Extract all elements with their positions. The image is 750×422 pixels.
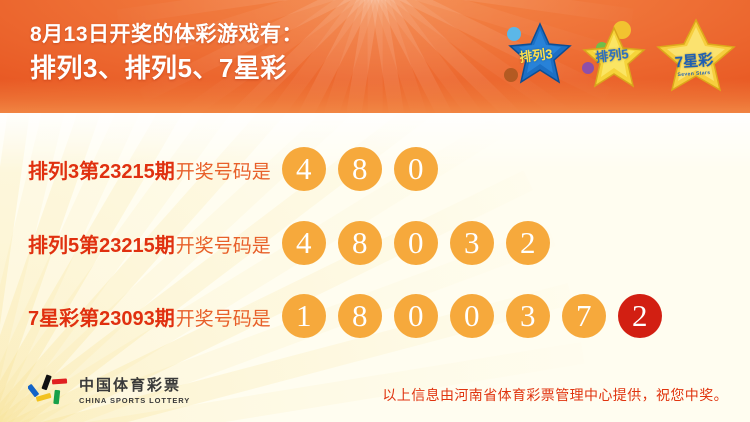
winning-number-value: 3 bbox=[520, 300, 536, 331]
winning-number-value: 0 bbox=[408, 227, 424, 258]
china-sports-lottery-logo-icon bbox=[28, 374, 70, 408]
winning-number-ball: 0 bbox=[394, 294, 438, 338]
brand-name-en: CHINA SPORTS LOTTERY bbox=[79, 396, 190, 405]
winning-number-ball: 4 bbox=[282, 147, 326, 191]
header-line-1: 8月13日开奖的体彩游戏有： bbox=[30, 22, 303, 48]
result-issue-label: 排列5第23215期 bbox=[28, 229, 175, 258]
winning-number-value: 2 bbox=[632, 300, 648, 331]
header-title-block: 8月13日开奖的体彩游戏有： 排列3、排列5、7星彩 bbox=[30, 22, 303, 86]
result-tail-label: 开奖号码是 bbox=[176, 157, 271, 184]
result-row: 排列5第23215期开奖号码是48032 bbox=[28, 219, 562, 267]
brand-text-block: 中国体育彩票 CHINA SPORTS LOTTERY bbox=[79, 377, 190, 404]
result-row-label: 排列3第23215期开奖号码是 bbox=[28, 155, 271, 184]
game-logo-pailie3[interactable]: 排列3 bbox=[500, 18, 572, 92]
winning-number-value: 4 bbox=[296, 227, 312, 258]
winning-number-ball: 8 bbox=[338, 221, 382, 265]
result-tail-label: 开奖号码是 bbox=[176, 231, 271, 258]
banner-body: 排列3第23215期开奖号码是480排列5第23215期开奖号码是480327星… bbox=[0, 113, 750, 422]
winning-number-ball: 8 bbox=[338, 294, 382, 338]
header-line-2: 排列3、排列5、7星彩 bbox=[30, 52, 303, 86]
winning-number-value: 8 bbox=[352, 227, 368, 258]
winning-number-ball: 0 bbox=[394, 221, 438, 265]
winning-number-ball: 0 bbox=[394, 147, 438, 191]
game-logo-group: 排列3 排列5 7星彩 Seven Stars bbox=[500, 18, 736, 92]
winning-number-value: 2 bbox=[520, 227, 536, 258]
result-row: 7星彩第23093期开奖号码是1800372 bbox=[28, 292, 674, 340]
banner-footer: 中国体育彩票 CHINA SPORTS LOTTERY 以上信息由河南省体育彩票… bbox=[0, 360, 750, 422]
winning-number-group: 48032 bbox=[282, 221, 562, 265]
result-row: 排列3第23215期开奖号码是480 bbox=[28, 145, 450, 193]
banner-header: 8月13日开奖的体彩游戏有： 排列3、排列5、7星彩 排列3 bbox=[0, 0, 750, 113]
winning-number-value: 7 bbox=[576, 300, 592, 331]
result-row-label: 排列5第23215期开奖号码是 bbox=[28, 229, 271, 258]
winning-number-value: 0 bbox=[408, 153, 424, 184]
winning-number-ball: 2 bbox=[506, 221, 550, 265]
winning-number-value: 0 bbox=[464, 300, 480, 331]
winning-number-ball: 4 bbox=[282, 221, 326, 265]
winning-number-value: 8 bbox=[352, 153, 368, 184]
result-tail-label: 开奖号码是 bbox=[176, 304, 271, 331]
game-logo-pailie5[interactable]: 排列5 bbox=[576, 18, 648, 92]
winning-number-ball: 7 bbox=[562, 294, 606, 338]
winning-number-ball: 8 bbox=[338, 147, 382, 191]
winning-number-value: 8 bbox=[352, 300, 368, 331]
result-issue-label: 排列3第23215期 bbox=[28, 155, 175, 184]
winning-number-ball: 3 bbox=[450, 221, 494, 265]
winning-number-value: 0 bbox=[408, 300, 424, 331]
result-issue-label: 7星彩第23093期 bbox=[28, 302, 175, 331]
winning-number-ball-special: 2 bbox=[618, 294, 662, 338]
brand-lockup: 中国体育彩票 CHINA SPORTS LOTTERY bbox=[28, 374, 190, 408]
brand-name-cn: 中国体育彩票 bbox=[79, 377, 190, 394]
winning-number-value: 1 bbox=[296, 300, 312, 331]
game-logo-qixingcai[interactable]: 7星彩 Seven Stars bbox=[652, 18, 736, 92]
winning-number-group: 1800372 bbox=[282, 294, 674, 338]
winning-number-value: 4 bbox=[296, 153, 312, 184]
winning-number-ball: 3 bbox=[506, 294, 550, 338]
winning-number-ball: 1 bbox=[282, 294, 326, 338]
winning-number-group: 480 bbox=[282, 147, 450, 191]
lottery-result-banner: 8月13日开奖的体彩游戏有： 排列3、排列5、7星彩 排列3 bbox=[0, 0, 750, 422]
footer-disclaimer: 以上信息由河南省体育彩票管理中心提供，祝您中奖。 bbox=[382, 385, 728, 405]
result-row-label: 7星彩第23093期开奖号码是 bbox=[28, 302, 271, 331]
winning-number-value: 3 bbox=[464, 227, 480, 258]
winning-number-ball: 0 bbox=[450, 294, 494, 338]
